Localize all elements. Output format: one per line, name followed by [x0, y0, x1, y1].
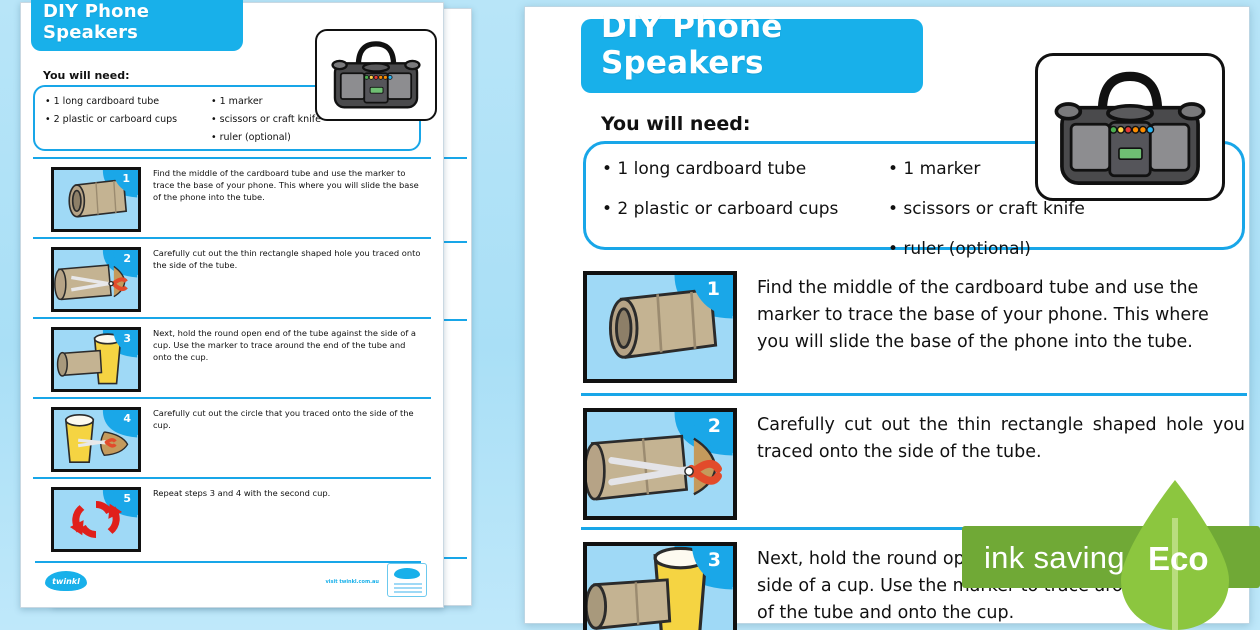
left-document-preview[interactable]: ou cut out other cup. play some should m…: [0, 0, 500, 630]
step-row: 5 Repeat steps 3 and 4 with the second c…: [33, 477, 431, 557]
material-item: • scissors or craft knife: [211, 111, 321, 129]
materials-column-1: • 1 long cardboard tube • 2 plastic or c…: [602, 150, 838, 230]
step-row: 1 Find the middle of the cardboard tube …: [33, 157, 431, 237]
step-image: 2: [583, 408, 737, 520]
ink-saving-label: ink saving: [984, 540, 1125, 576]
step-text: Carefully cut out the thin rectangle sha…: [757, 412, 1245, 466]
material-item: • 2 plastic or carboard cups: [602, 190, 838, 230]
boombox-illustration: [1035, 53, 1225, 201]
page-title: DIY Phone Speakers: [581, 19, 923, 93]
screenshot-stage: ou cut out other cup. play some should m…: [0, 0, 1260, 630]
materials-heading: You will need:: [601, 113, 750, 135]
step-image: 1: [51, 167, 141, 232]
step-row: 4 Carefully cut out the circle that you …: [33, 397, 431, 477]
first-page-sheet: DIY Phone Speakers You will need: • 1 lo…: [20, 2, 444, 608]
step-row: 2 Carefully cut out the thin rectangle s…: [33, 237, 431, 317]
page-title-small: DIY Phone Speakers: [31, 0, 243, 51]
step-text: Repeat steps 3 and 4 with the second cup…: [153, 487, 423, 499]
ink-saving-eco-badge: ink saving Eco: [962, 526, 1260, 588]
step-image: 2: [51, 247, 141, 312]
material-item: • 1 marker: [211, 93, 321, 111]
boombox-illustration-small: [315, 29, 437, 121]
step-text: Next, hold the round open end of the tub…: [153, 327, 423, 363]
step-text: Carefully cut out the circle that you tr…: [153, 407, 423, 431]
twinkl-stamp-icon: [387, 563, 427, 597]
step-number: 5: [123, 492, 131, 505]
boombox-icon: [317, 31, 435, 119]
materials-column-1-small: • 1 long cardboard tube • 2 plastic or c…: [45, 93, 177, 129]
materials-column-2-small: • 1 marker • scissors or craft knife • r…: [211, 93, 321, 147]
step-image: 1: [583, 271, 737, 383]
twinkl-url-text: visit twinkl.com.au: [326, 579, 379, 585]
step-number: 4: [123, 412, 131, 425]
step-row: 1 Find the middle of the cardboard tube …: [581, 259, 1247, 393]
step-number: 1: [707, 278, 720, 300]
step-text: Find the middle of the cardboard tube an…: [757, 275, 1245, 356]
material-item: • ruler (optional): [211, 129, 321, 147]
step-image: 5: [51, 487, 141, 552]
step-number: 3: [123, 332, 131, 345]
boombox-icon: [1038, 56, 1222, 198]
footer-divider: [35, 561, 421, 563]
step-text: Carefully cut out the thin rectangle sha…: [153, 247, 423, 271]
material-item: • 2 plastic or carboard cups: [45, 111, 177, 129]
step-image: 4: [51, 407, 141, 472]
material-item: • 1 long cardboard tube: [45, 93, 177, 111]
step-text: Find the middle of the cardboard tube an…: [153, 167, 423, 203]
step-number: 2: [708, 415, 721, 437]
material-item: • 1 long cardboard tube: [602, 150, 838, 190]
twinkl-logo[interactable]: twinkl: [45, 571, 87, 591]
step-number: 3: [708, 549, 721, 571]
step-image: 3: [583, 542, 737, 630]
step-image: 3: [51, 327, 141, 392]
step-number: 1: [122, 172, 130, 185]
materials-heading-small: You will need:: [43, 69, 130, 82]
step-row: 3 Next, hold the round open end of the t…: [33, 317, 431, 397]
step-number: 2: [123, 252, 131, 265]
eco-label: Eco: [1148, 540, 1209, 578]
